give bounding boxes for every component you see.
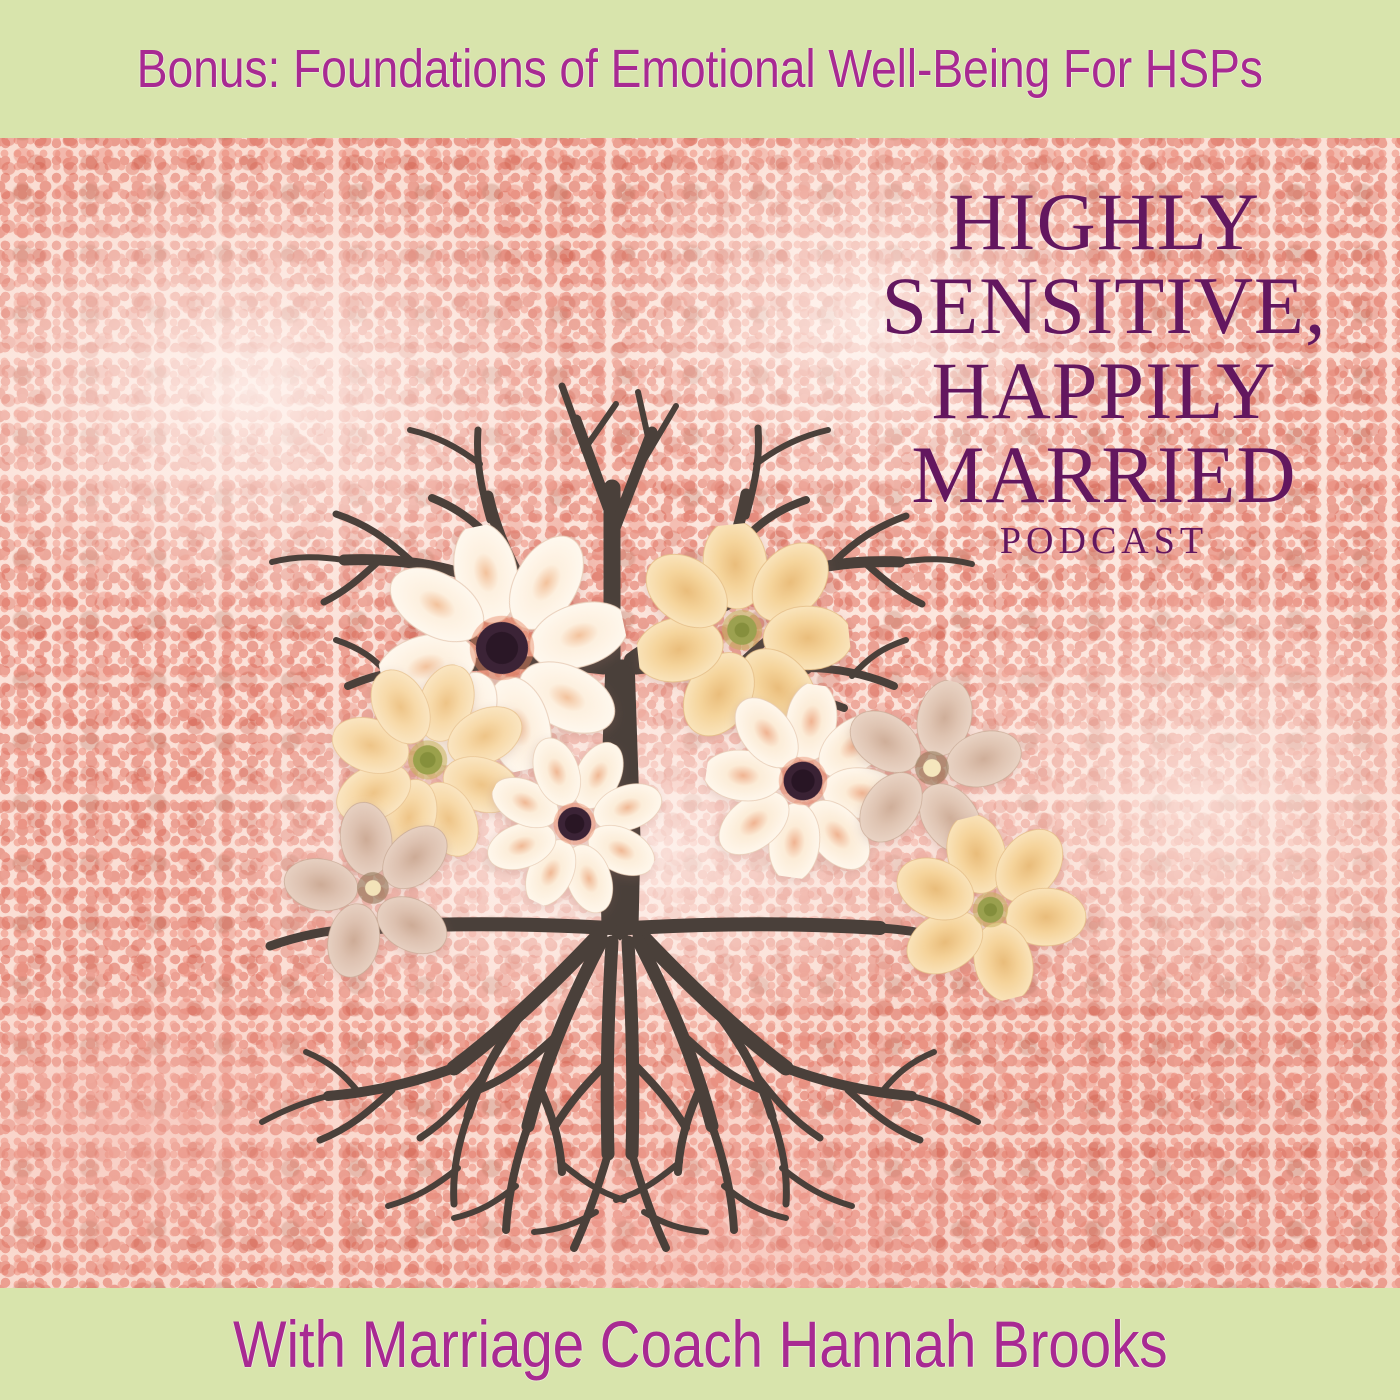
title-line-highly: HIGHLY: [828, 182, 1380, 262]
title-subtitle-podcast: PODCAST: [828, 519, 1380, 563]
host-credit: With Marriage Coach Hannah Brooks: [233, 1306, 1167, 1382]
podcast-cover-art: Bonus: Foundations of Emotional Well-Bei…: [0, 0, 1400, 1400]
podcast-title-block: HIGHLY SENSITIVE, HAPPILY MARRIED PODCAS…: [828, 182, 1380, 563]
flower-taupe-blossom-left: [274, 789, 473, 988]
episode-title: Bonus: Foundations of Emotional Well-Bei…: [137, 38, 1263, 100]
top-banner: Bonus: Foundations of Emotional Well-Bei…: [0, 0, 1400, 138]
title-line-happily: HAPPILY: [828, 351, 1380, 431]
title-line-married: MARRIED: [828, 435, 1380, 515]
title-line-sensitive: SENSITIVE,: [828, 266, 1380, 346]
bottom-banner: With Marriage Coach Hannah Brooks: [0, 1288, 1400, 1400]
cover-artwork: HIGHLY SENSITIVE, HAPPILY MARRIED PODCAS…: [0, 138, 1400, 1288]
